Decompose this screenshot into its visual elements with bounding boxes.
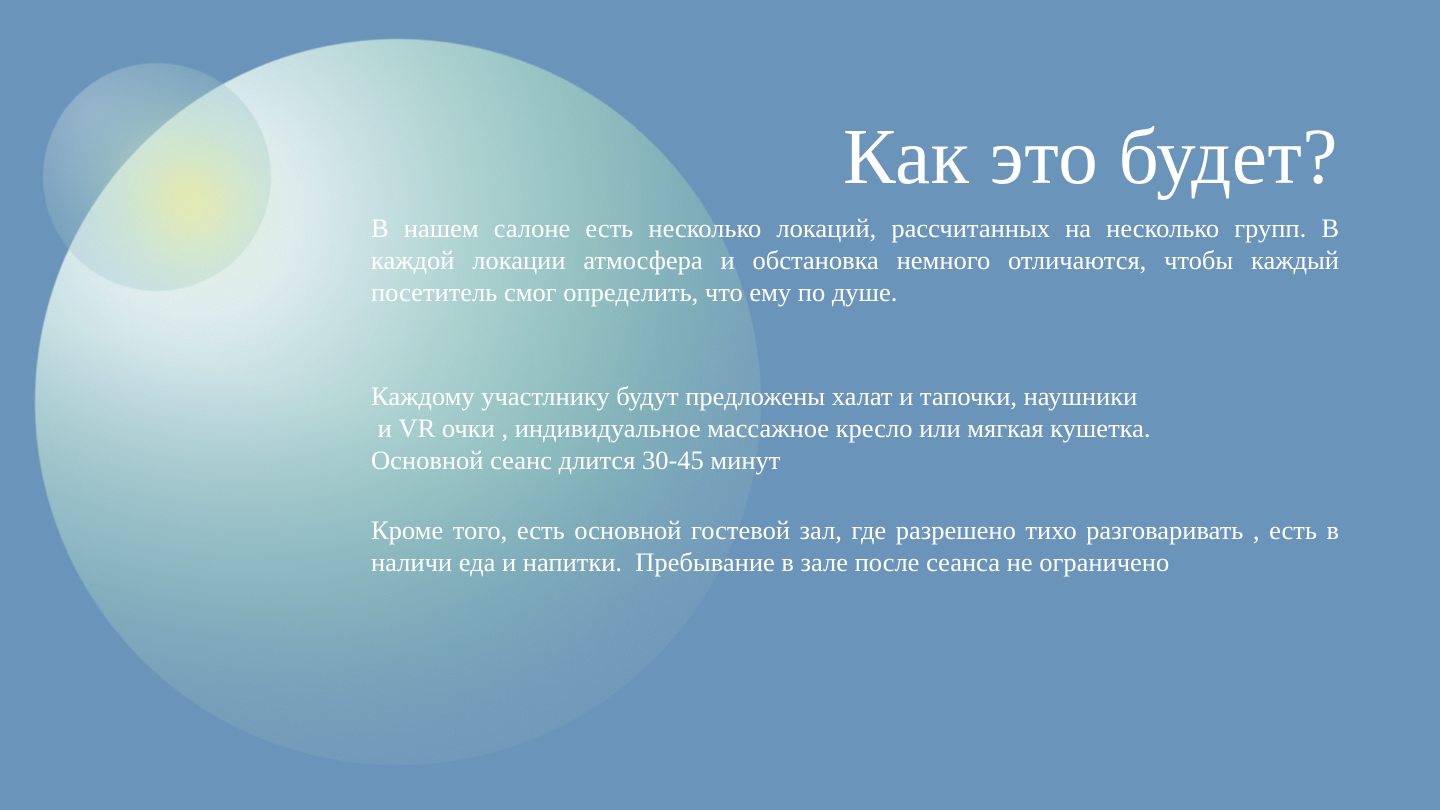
slide-body-text: В нашем салоне есть несколько локаций, р… [371,212,1339,579]
body-paragraph-3: Кроме того, есть основной гостевой зал, … [371,514,1339,578]
presentation-slide: Как это будет? В нашем салоне есть неско… [0,0,1440,810]
body-paragraph-1: В нашем салоне есть несколько локаций, р… [371,212,1339,309]
slide-title: Как это будет? [843,115,1338,200]
circle-overlap-highlight [108,120,288,300]
small-gradient-circle [43,63,271,291]
body-paragraph-2: Каждому участлнику будут предложены хала… [371,380,1339,477]
